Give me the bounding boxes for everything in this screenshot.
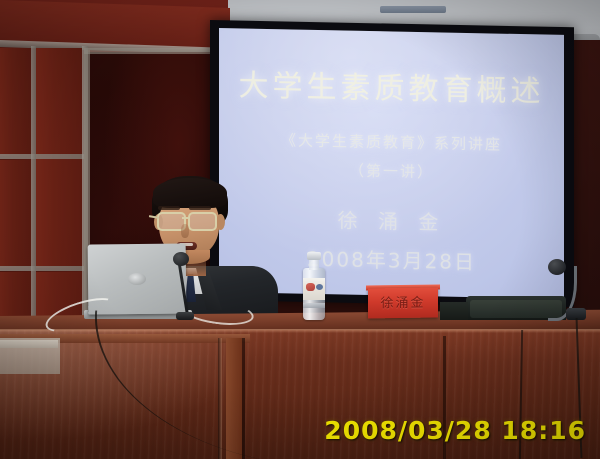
microphone-icon (173, 252, 189, 266)
metal-trim-strip (0, 154, 84, 159)
photograph: 大学生素质教育概述 《大学生素质教育》系列讲座 （第一讲） 徐 涌 金 2008… (0, 0, 600, 459)
eyeglasses-bridge (182, 217, 190, 219)
ceiling-vent (380, 6, 446, 13)
eyeglasses-lens-right (188, 212, 217, 231)
metal-trim-strip (0, 266, 84, 271)
microphone-icon (548, 259, 566, 275)
water-bottle-cap (307, 252, 321, 260)
camera-timestamp: 2008/03/28 18:16 (324, 416, 586, 445)
slide-title: 大学生素质教育概述 (219, 60, 564, 111)
bottle-label-graphic (306, 283, 315, 291)
metal-trim-strip (31, 46, 36, 342)
chair-side (440, 302, 468, 320)
alcove-frame (84, 48, 220, 54)
speaker-eyebrow-right (189, 206, 211, 210)
speaker-ear-right (216, 214, 225, 230)
laptop-brand-logo-icon (128, 273, 146, 285)
bottle-label-graphic (316, 284, 323, 290)
wood-slat (0, 160, 32, 268)
wood-slat (0, 48, 32, 156)
water-bottle-base-band (303, 303, 325, 308)
nameplate-text: 徐涌金 (375, 294, 431, 315)
desk-inset-panel-trim (0, 340, 58, 348)
speaker-eyebrow-left (158, 206, 180, 210)
speaker-nose (181, 224, 189, 238)
speaker-hair-front (153, 178, 227, 208)
